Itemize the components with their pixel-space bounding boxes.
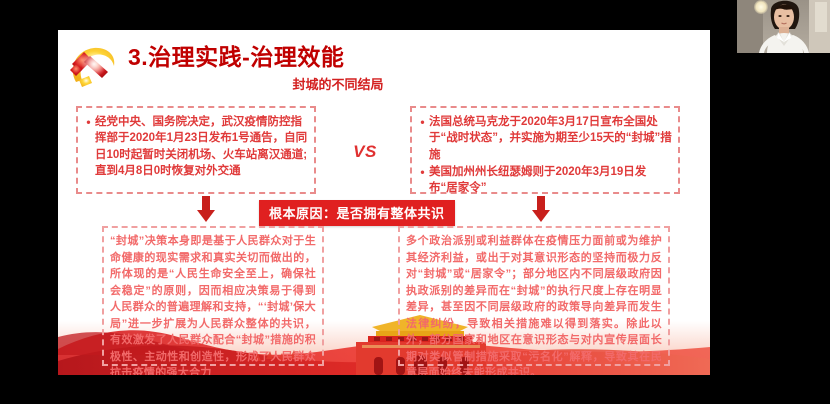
- presentation-slide: 3.治理实践-治理效能 封城的不同结局 • 经党中央、国务院决定，武汉疫情防控指…: [58, 30, 710, 375]
- foreign-lockdown-box: • 法国总统马克龙于2020年3月17日宣布全国处于“战时状态”，并实施为期至少…: [410, 106, 680, 194]
- ccp-hammer-sickle-emblem-icon: [64, 42, 118, 92]
- bullet-dot-icon: •: [416, 114, 429, 131]
- page-title: 3.治理实践-治理效能: [128, 44, 688, 70]
- bullet-dot-icon: •: [82, 114, 95, 131]
- china-lockdown-box: • 经党中央、国务院决定，武汉疫情防控指挥部于2020年1月23日发布1号通告，…: [76, 106, 316, 194]
- list-item-label: 经党中央、国务院决定，武汉疫情防控指挥部于2020年1月23日发布1号通告，自同…: [95, 114, 308, 179]
- list-item-label: 法国总统马克龙于2020年3月17日宣布全国处于“战时状态”，并实施为期至少15…: [429, 114, 672, 163]
- vs-separator-label: VS: [334, 142, 396, 162]
- bullet-dot-icon: •: [416, 164, 429, 181]
- foreign-analysis-paragraph: 多个政治派别或利益群体在疫情压力面前或为维护其经济利益，或出于对其意识形态的坚持…: [398, 226, 670, 366]
- list-item: • 美国加州州长纽瑟姆则于2020年3月19日发布“居家令”: [416, 164, 672, 197]
- down-arrow-icon: [195, 196, 217, 222]
- presenter-webcam-feed[interactable]: [737, 0, 830, 53]
- list-item-label: 美国加州州长纽瑟姆则于2020年3月19日发布“居家令”: [429, 164, 672, 197]
- screen-share-viewport: 3.治理实践-治理效能 封城的不同结局 • 经党中央、国务院决定，武汉疫情防控指…: [0, 0, 830, 404]
- list-item: • 法国总统马克龙于2020年3月17日宣布全国处于“战时状态”，并实施为期至少…: [416, 114, 672, 163]
- page-subtitle: 封城的不同结局: [128, 74, 688, 93]
- slide-header: 3.治理实践-治理效能 封城的不同结局: [128, 44, 688, 93]
- down-arrow-icon: [530, 196, 552, 222]
- list-item: • 经党中央、国务院决定，武汉疫情防控指挥部于2020年1月23日发布1号通告，…: [82, 114, 308, 179]
- china-analysis-paragraph: “封城”决策本身即是基于人民群众对于生命健康的现实需求和真实关切而做出的，所体现…: [102, 226, 324, 366]
- root-cause-banner: 根本原因：是否拥有整体共识: [259, 200, 455, 226]
